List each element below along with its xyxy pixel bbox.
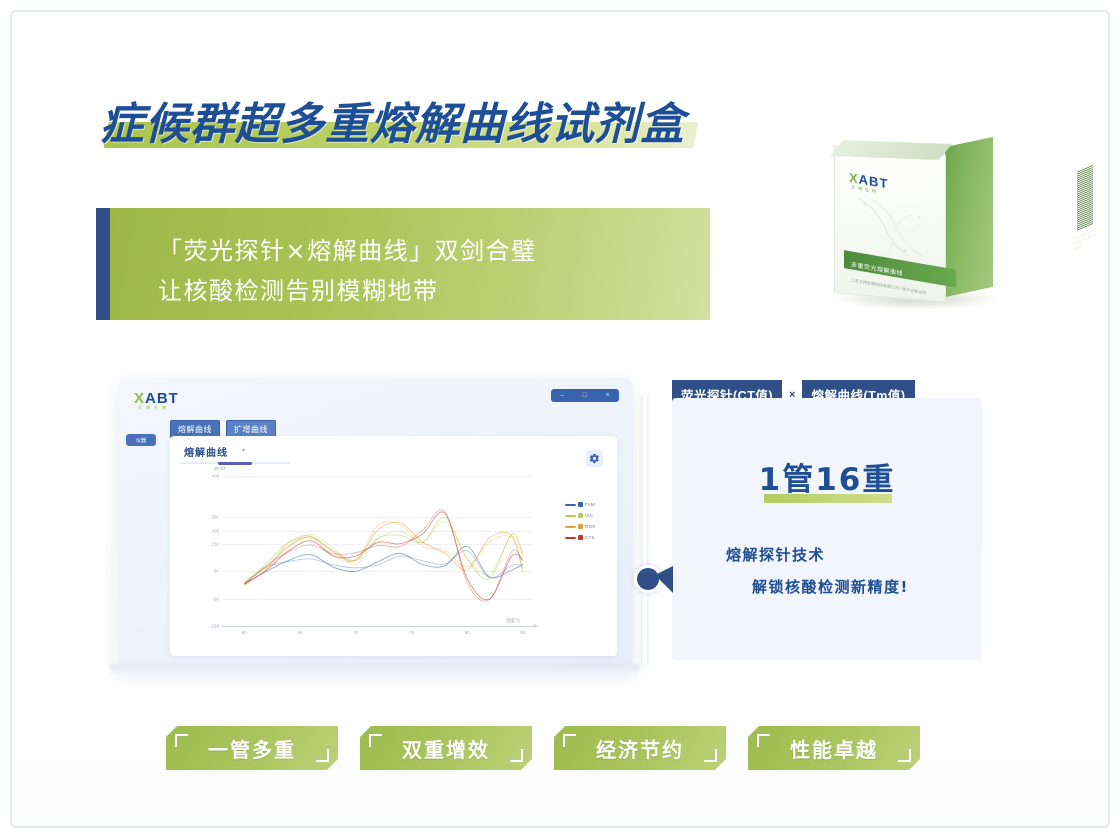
feature-badge: 一管多重 (166, 726, 338, 770)
chevron-down-icon[interactable]: ▾ (242, 447, 245, 454)
window-controls[interactable]: – □ × (551, 389, 619, 402)
bracket-top-left-icon (369, 734, 382, 747)
panel-arrow-decoration (655, 566, 673, 593)
legend-line-icon (565, 515, 576, 517)
bracket-top-left-icon (175, 734, 188, 747)
poster-root: 症候群超多重熔解曲线试剂盒 「荧光探针×熔解曲线」双剑合璧 让核酸检测告别模糊地… (0, 0, 1120, 838)
y-tick-label: 50 (214, 569, 219, 574)
panel-title: 熔解曲线 (184, 444, 228, 459)
legend-line-icon (565, 526, 576, 528)
feature-badge-label: 一管多重 (208, 734, 296, 763)
x-tick-label: 60 (242, 630, 247, 635)
software-screenshot-mockup: XABT 艾博生物 – □ × 仪器 熔解曲线 扩增曲线 熔解曲线 ▾ dF/d… (118, 378, 633, 668)
banner-line-2: 让核酸检测告别模糊地带 (158, 271, 439, 306)
bracket-top-left-icon (757, 734, 770, 747)
banner-body: 「荧光探针×熔解曲线」双剑合璧 让核酸检测告别模糊地带 (110, 208, 710, 320)
x-tick-label: 70 (353, 630, 358, 635)
legend-line-icon (565, 537, 576, 539)
maximize-icon[interactable]: □ (583, 392, 587, 399)
y-tick-label: -150 (210, 624, 219, 629)
barcode-icon (1077, 164, 1093, 231)
y-axis-label: dF/dT (214, 466, 226, 471)
big-number: 1管16重 (672, 454, 982, 499)
legend-item[interactable]: FAM (565, 502, 609, 507)
x-axis-line (222, 626, 534, 627)
legend-item[interactable]: CY5 (565, 535, 609, 540)
feature-badge: 经济节约 (554, 726, 726, 770)
banner-line-1: 「荧光探针×熔解曲线」双剑合璧 (158, 231, 537, 266)
panel-rule-active-indicator (218, 462, 252, 465)
legend-line-icon (565, 504, 576, 506)
bracket-bottom-right-icon (898, 749, 911, 762)
feature-badge-label: 经济节约 (596, 734, 684, 763)
curve-fam (244, 550, 523, 583)
curve-cy5 (244, 512, 523, 600)
legend-swatch-icon (578, 513, 583, 518)
highlight-line-2: 解锁核酸检测新精度! (752, 576, 909, 597)
close-icon[interactable]: × (606, 392, 610, 399)
melting-curve-chart: dF/dT 40025020015050-50-150 606570758085… (188, 470, 548, 645)
legend-label: VIC (585, 513, 593, 518)
subtitle-banner: 「荧光探针×熔解曲线」双剑合璧 让核酸检测告别模糊地带 (96, 208, 710, 320)
legend-swatch-icon (578, 524, 583, 529)
chart-legend: FAMVICROXCY5 (565, 502, 609, 546)
minimize-icon[interactable]: – (560, 392, 564, 399)
feature-badge-row: 一管多重 双重增效 经济节约 性能卓越 (166, 726, 956, 774)
y-tick-label: -50 (212, 596, 219, 601)
connector-track (643, 395, 647, 665)
highlight-panel: 1管16重 熔解探针技术 解锁核酸检测新精度! (672, 398, 982, 660)
x-axis-label: 温度°C (506, 618, 520, 624)
bracket-top-left-icon (563, 734, 576, 747)
x-tick-label: 85 (520, 630, 525, 635)
connector-slider (630, 395, 660, 665)
y-tick-label: 150 (211, 542, 219, 547)
app-logo-subtitle: 艾博生物 (138, 405, 170, 411)
sidebar-button[interactable]: 仪器 (126, 434, 156, 446)
legend-item[interactable]: ROX (565, 524, 609, 529)
bracket-bottom-right-icon (510, 749, 523, 762)
chart-panel: 熔解曲线 ▾ dF/dT 40025020015050-50-150 60657… (170, 436, 617, 656)
legend-label: FAM (585, 502, 595, 507)
curve-plot-area (222, 476, 534, 628)
y-tick-label: 250 (211, 514, 219, 519)
feature-badge: 双重增效 (360, 726, 532, 770)
x-tick-label: 65 (297, 630, 302, 635)
curve-cy5 (244, 510, 523, 602)
banner-accent-bar (96, 208, 110, 320)
legend-swatch-icon (578, 535, 583, 540)
page-title: 症候群超多重熔解曲线试剂盒 (100, 88, 740, 152)
gear-icon[interactable] (586, 450, 603, 467)
legend-item[interactable]: VIC (565, 513, 609, 518)
feature-badge-label: 性能卓越 (790, 734, 878, 763)
legend-label: ROX (585, 524, 595, 529)
product-box-image: 江苏艾博生物科技有限公司 / 体外诊断试剂 XABT 艾博生物 多重荧光熔解曲线… (826, 138, 1006, 316)
feature-badge-label: 双重增效 (402, 734, 490, 763)
highlight-line-1: 熔解探针技术 (726, 544, 825, 565)
feature-badge: 性能卓越 (748, 726, 920, 770)
laptop-base (110, 664, 640, 680)
x-tick-label: 80 (465, 630, 470, 635)
legend-label: CY5 (585, 535, 594, 540)
bracket-bottom-right-icon (316, 749, 329, 762)
x-tick-label: 75 (409, 630, 414, 635)
legend-swatch-icon (578, 502, 583, 507)
bracket-bottom-right-icon (704, 749, 717, 762)
y-tick-label: 200 (211, 528, 219, 533)
y-tick-label: 400 (211, 474, 219, 479)
product-box-front: XABT 艾博生物 多重荧光熔解曲线 江苏艾博生物科技有限公司 / 体外诊断试剂 (834, 145, 946, 303)
title-text: 症候群超多重熔解曲线试剂盒 (100, 88, 685, 152)
